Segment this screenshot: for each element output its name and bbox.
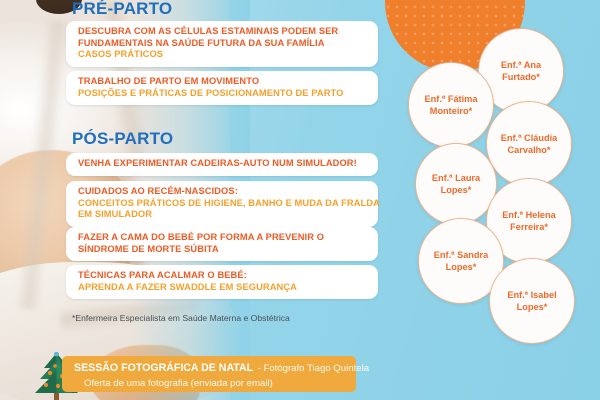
speaker-bubble-text: Enf.ª Sandra Lopes* [427,249,495,273]
photo-session-banner[interactable]: SESSÃO FOTOGRÁFICA DE NATAL - Fotógrafo … [62,356,356,392]
photo-session-headline: SESSÃO FOTOGRÁFICA DE NATAL - Fotógrafo … [74,359,356,376]
speaker-name-line: Carvalho* [508,145,551,155]
section-heading-pos-parto: PÓS-PARTO [72,129,173,149]
speaker-name-line: Enf.ª Sandra [434,250,488,260]
speaker-name-line: Enf.ª Fátima [425,94,478,104]
photo-session-title: SESSÃO FOTOGRÁFICA DE NATAL [74,362,253,374]
session-card-title-line: TÉCNICAS PARA ACALMAR O BEBÉ: [78,270,368,282]
speaker-bubble-text: Enf.ª Ana Furtado* [494,59,548,83]
photo-session-credit: - Fotógrafo Tiago Quintela [258,363,369,374]
session-card[interactable]: VENHA EXPERIMENTAR CADEIRAS-AUTO NUM SIM… [66,153,378,176]
speaker-name-line: Enf.ª Helena [502,210,555,220]
session-card-title-line: DESCUBRA COM AS CÉLULAS ESTAMINAIS PODEM… [78,26,368,38]
photo-session-offer: Oferta de uma fotografia (enviada por em… [74,376,356,391]
speaker-name-line: Enf.ª Laura [432,173,480,183]
session-card-title-line: SÍNDROME DE MORTE SÚBITA [78,244,368,256]
section-heading-pre-parto: PRÉ-PARTO [72,0,172,19]
session-card-subtitle-line: CASOS PRÁTICOS [78,49,368,61]
session-card-title-line: TRABALHO DE PARTO EM MOVIMENTO [78,76,368,88]
session-card-subtitle-line: POSIÇÕES E PRÁTICAS DE POSICIONAMENTO DE… [78,88,368,100]
session-card-title-line: FAZER A CAMA DO BEBÉ POR FORMA A PREVENI… [78,232,368,244]
speaker-bubble[interactable]: Enf.ª Fátima Monteiro* [408,62,494,148]
speaker-name-line: Lopes* [446,262,477,272]
speaker-bubble-text: Enf.ª Laura Lopes* [425,172,487,196]
speaker-bubble-text: Enf.ª Cláudia Carvalho* [494,132,565,156]
footnote-text: *Enfermeira Especialista em Saúde Matern… [72,313,290,323]
speaker-bubble-text: Enf.ª Fátima Monteiro* [418,93,485,117]
session-card[interactable]: TRABALHO DE PARTO EM MOVIMENTO POSIÇÕES … [66,71,378,105]
speaker-name-line: Monteiro* [430,106,472,116]
speaker-bubble[interactable]: Enf.ª Isabel Lopes* [489,258,575,344]
speaker-name-line: Lopes* [441,185,472,195]
session-card-title-line: FUNDAMENTAIS NA SAÚDE FUTURA DA SUA FAMÍ… [78,38,368,50]
speaker-name-line: Enf.ª Cláudia [501,133,558,143]
session-card-subtitle-line: APRENDA A FAZER SWADDLE EM SEGURANÇA [78,282,368,294]
session-card[interactable]: DESCUBRA COM AS CÉLULAS ESTAMINAIS PODEM… [66,21,378,67]
session-card-subtitle-line: CONCEITOS PRÁTICOS DE HIGIENE, BANHO E M… [78,198,368,210]
session-card[interactable]: FAZER A CAMA DO BEBÉ POR FORMA A PREVENI… [66,227,378,261]
speaker-bubble[interactable]: Enf.ª Laura Lopes* [415,143,497,225]
speaker-bubble-text: Enf.ª Helena Ferreira* [495,209,562,233]
session-card[interactable]: CUIDADOS AO RECÉM-NASCIDOS: CONCEITOS PR… [66,181,378,227]
speaker-name-line: Lopes* [517,302,548,312]
speaker-name-line: Enf.ª Isabel [507,290,556,300]
speaker-bubble-text: Enf.ª Isabel Lopes* [500,289,563,313]
event-poster: PRÉ-PARTO PÓS-PARTO DESCUBRA COM AS CÉLU… [0,0,600,400]
session-card[interactable]: TÉCNICAS PARA ACALMAR O BEBÉ: APRENDA A … [66,265,378,299]
speaker-name-line: Enf.ª Ana [501,60,541,70]
speaker-name-line: Ferreira* [510,222,548,232]
session-card-title-line: CUIDADOS AO RECÉM-NASCIDOS: [78,186,368,198]
session-card-title-line: VENHA EXPERIMENTAR CADEIRAS-AUTO NUM SIM… [78,158,368,170]
speaker-bubble[interactable]: Enf.ª Cláudia Carvalho* [486,101,572,187]
speaker-name-line: Furtado* [502,72,540,82]
session-card-subtitle-line: EM SIMULADOR [78,209,368,221]
